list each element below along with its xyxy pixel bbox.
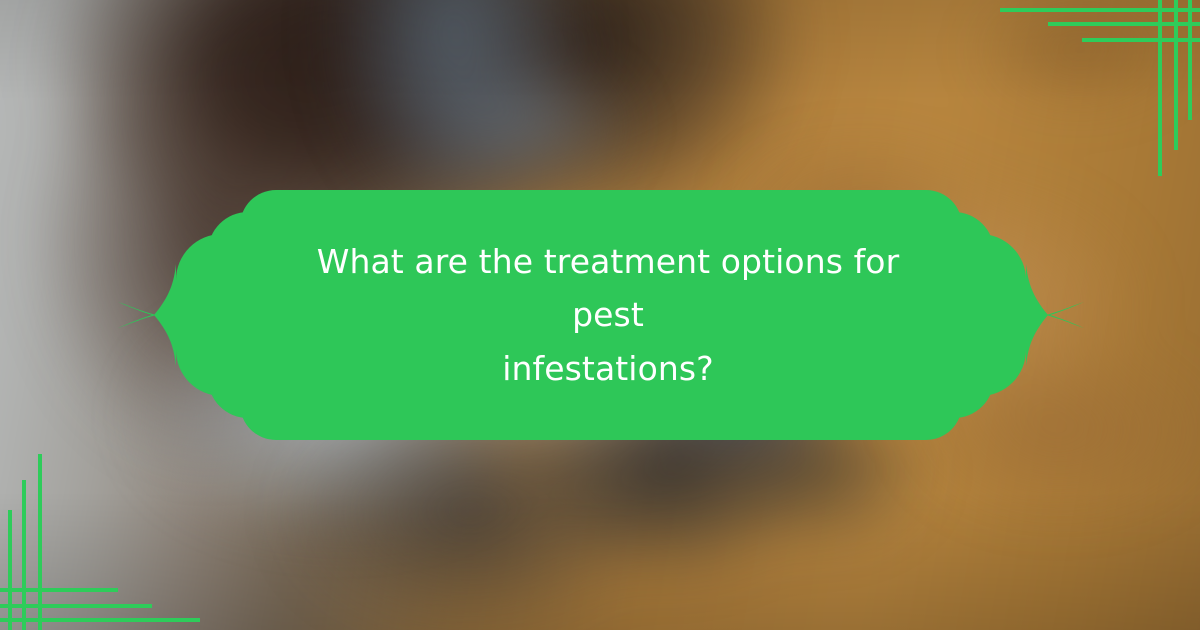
corner-grid-bottom-left — [0, 440, 210, 630]
question-speech-bubble: What are the treatment options for pest … — [108, 190, 1094, 440]
question-text-block: What are the treatment options for pest … — [298, 190, 918, 440]
deco-horizontal-line-1 — [0, 618, 200, 622]
deco-vertical-line-3 — [1158, 0, 1162, 176]
deco-vertical-line-2 — [22, 480, 26, 630]
deco-horizontal-line-3 — [0, 588, 118, 592]
question-line-1: What are the treatment options for pest — [304, 235, 912, 342]
deco-horizontal-line-3 — [1082, 38, 1200, 42]
deco-horizontal-line-1 — [1000, 8, 1200, 12]
deco-vertical-line-3 — [38, 454, 42, 630]
deco-vertical-line-1 — [8, 510, 12, 630]
deco-vertical-line-1 — [1188, 0, 1192, 120]
question-line-2: infestations? — [502, 342, 714, 395]
deco-vertical-line-2 — [1174, 0, 1178, 150]
corner-grid-top-right — [990, 0, 1200, 190]
question-card: What are the treatment options for pest … — [0, 0, 1200, 630]
